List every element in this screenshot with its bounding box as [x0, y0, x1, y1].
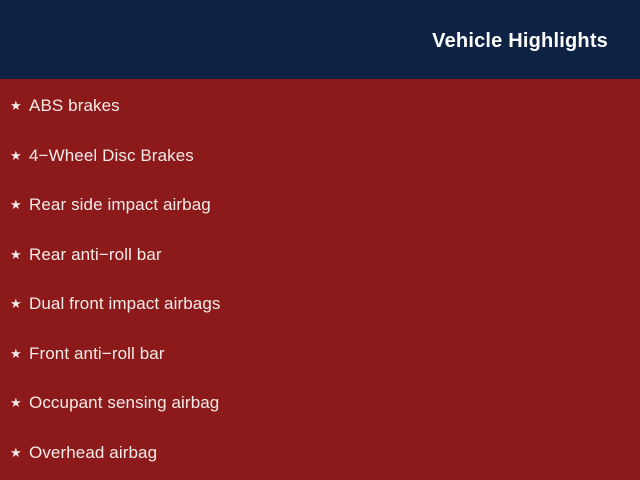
list-item: ★ Overhead airbag	[0, 442, 640, 480]
list-item-label: ABS brakes	[29, 95, 640, 117]
star-icon: ★	[10, 343, 29, 365]
list-item-label: Rear side impact airbag	[29, 194, 640, 216]
page-title: Vehicle Highlights	[432, 29, 608, 53]
list-item-label: Front anti−roll bar	[29, 343, 640, 365]
star-icon: ★	[10, 293, 29, 315]
vehicle-highlights-slide: Vehicle Highlights ★ ABS brakes ★ 4−Whee…	[0, 0, 640, 480]
list-item: ★ Occupant sensing airbag	[0, 392, 640, 442]
list-item: ★ 4−Wheel Disc Brakes	[0, 145, 640, 195]
list-item: ★ Rear anti−roll bar	[0, 244, 640, 294]
list-item-label: Occupant sensing airbag	[29, 392, 640, 414]
list-item: ★ Rear side impact airbag	[0, 194, 640, 244]
header-bar: Vehicle Highlights	[0, 0, 640, 79]
list-item-label: Dual front impact airbags	[29, 293, 640, 315]
list-item-label: Overhead airbag	[29, 442, 640, 464]
star-icon: ★	[10, 392, 29, 414]
star-icon: ★	[10, 244, 29, 266]
star-icon: ★	[10, 442, 29, 464]
list-item-label: Rear anti−roll bar	[29, 244, 640, 266]
vehicle-highlights-list: ★ ABS brakes ★ 4−Wheel Disc Brakes ★ Rea…	[0, 79, 640, 480]
star-icon: ★	[10, 194, 29, 216]
star-icon: ★	[10, 95, 29, 117]
list-item: ★ Front anti−roll bar	[0, 343, 640, 393]
list-item-label: 4−Wheel Disc Brakes	[29, 145, 640, 167]
list-item: ★ Dual front impact airbags	[0, 293, 640, 343]
star-icon: ★	[10, 145, 29, 167]
list-item: ★ ABS brakes	[0, 95, 640, 145]
